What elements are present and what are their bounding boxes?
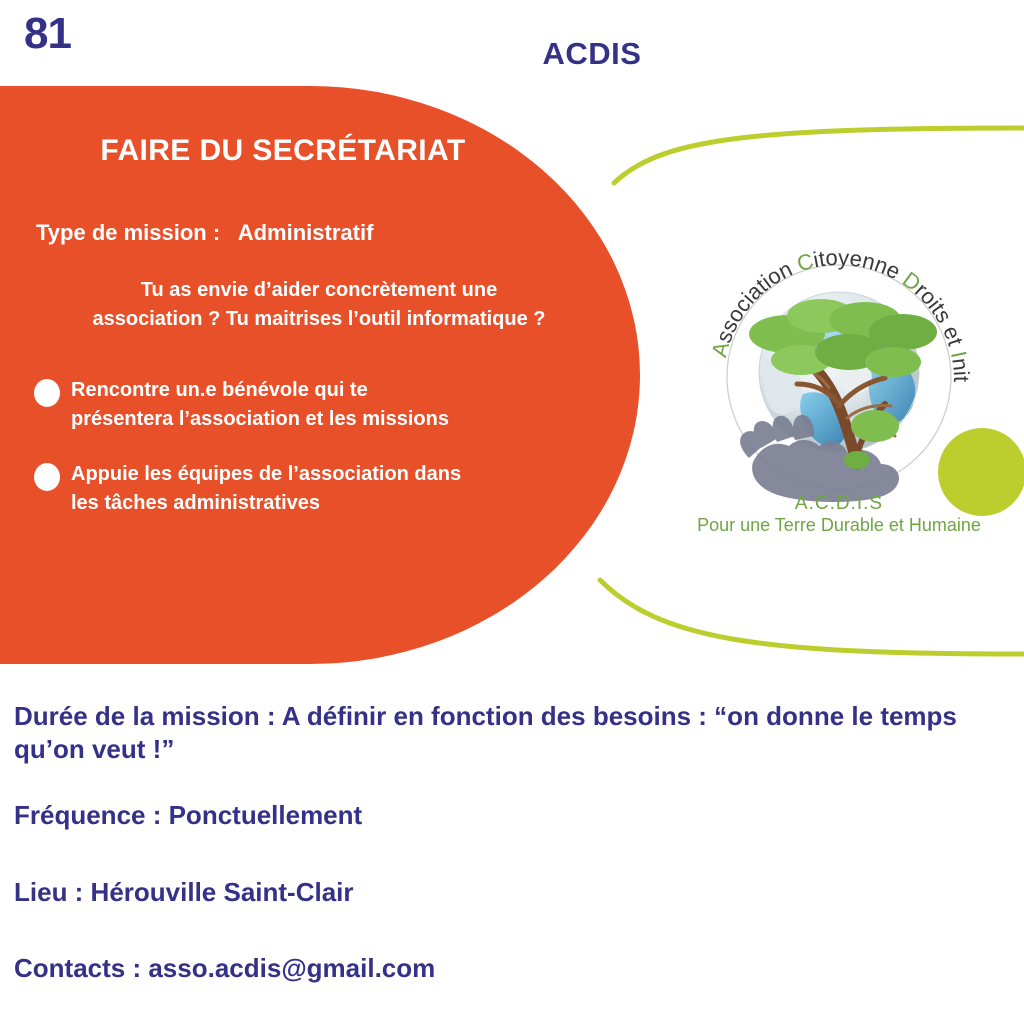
detail-location: Lieu : Hérouville Saint-Clair <box>14 876 1014 909</box>
green-curve-bottom <box>600 580 1024 654</box>
green-accent-circle <box>938 428 1024 516</box>
bullet-line2: présentera l’association et les missions <box>71 408 449 430</box>
mission-panel: FAIRE DU SECRÉTARIAT Type de mission : A… <box>0 86 640 664</box>
bullet-line1: Appuie les équipes de l’association dans <box>71 463 461 485</box>
list-item: Appuie les équipes de l’association dans… <box>34 460 614 518</box>
mission-type: Type de mission : Administratif <box>36 220 373 246</box>
duration-line1: Durée de la mission : A définir en fonct… <box>14 701 873 731</box>
mission-intro-line1: Tu as envie d’aider concrètement une <box>141 279 497 301</box>
bullet-line2: les tâches administratives <box>71 492 320 514</box>
bullet-text: Appuie les équipes de l’association dans… <box>71 460 461 518</box>
mission-title: FAIRE DU SECRÉTARIAT <box>0 134 566 168</box>
list-item: Rencontre un.e bénévole qui te présenter… <box>34 376 614 434</box>
detail-frequency: Fréquence : Ponctuellement <box>14 799 1014 832</box>
poster-canvas: 81 ACDIS FAIRE DU SECRÉTARIAT Type de mi… <box>0 0 1024 1024</box>
bullet-dot-icon <box>34 379 60 407</box>
detail-contact: Contacts : asso.acdis@gmail.com <box>14 952 1014 985</box>
bullet-text: Rencontre un.e bénévole qui te présenter… <box>71 376 449 434</box>
bullet-dot-icon <box>34 463 60 491</box>
bullet-line1: Rencontre un.e bénévole qui te <box>71 379 368 401</box>
logo-tagline: Pour une Terre Durable et Humaine <box>697 515 981 535</box>
detail-duration: Durée de la mission : A définir en fonct… <box>14 700 1014 765</box>
mission-type-value: Administratif <box>238 220 374 245</box>
mission-intro: Tu as envie d’aider concrètement une ass… <box>34 276 604 334</box>
logo-acronym: A.C.D.I.S <box>795 493 883 514</box>
mission-type-label: Type de mission : <box>36 220 220 245</box>
mission-details: Durée de la mission : A définir en fonct… <box>14 700 1014 985</box>
mission-bullet-list: Rencontre un.e bénévole qui te présenter… <box>34 376 614 544</box>
mission-intro-line2: association ? Tu maitrises l’outil infor… <box>92 308 545 330</box>
green-curve-top <box>614 128 1024 183</box>
page-title: ACDIS <box>0 36 1024 72</box>
